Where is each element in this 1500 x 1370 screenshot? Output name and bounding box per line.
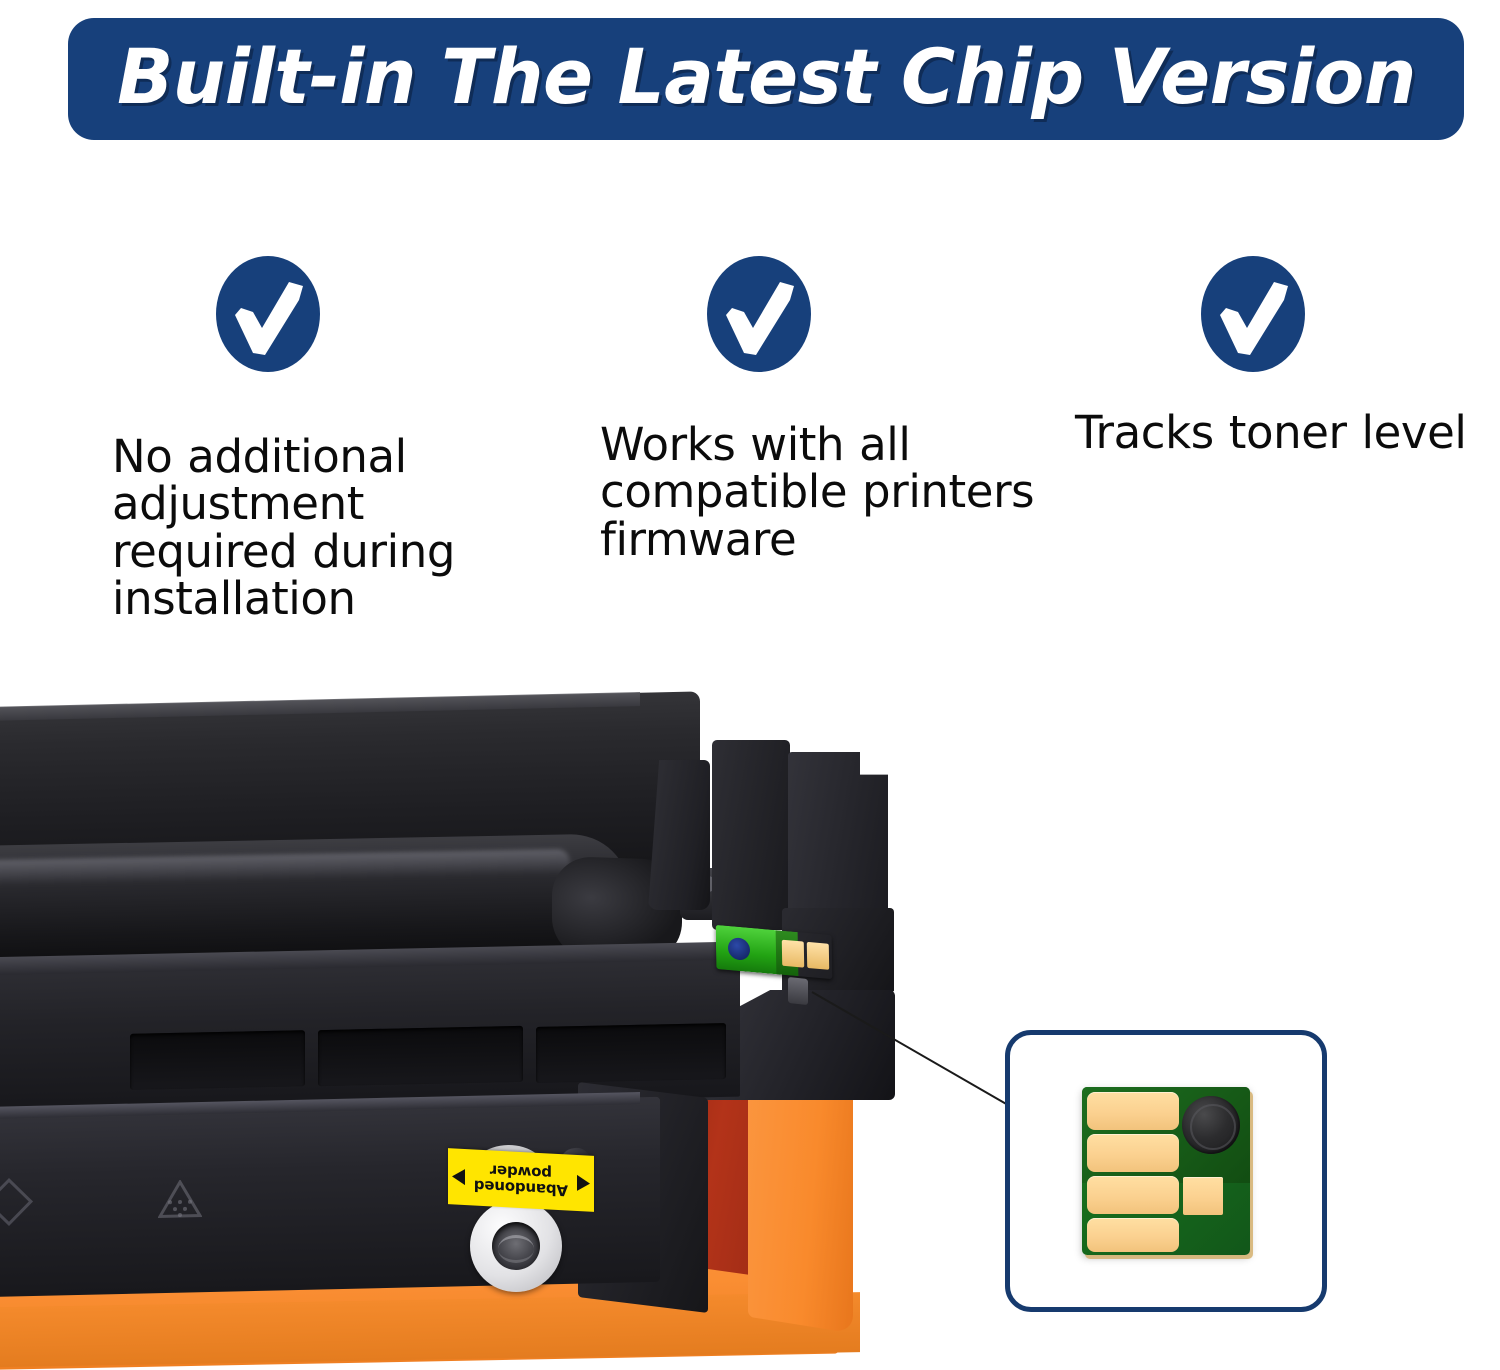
feature-list: No additional adjustment required during… <box>0 255 1500 655</box>
chip-callout-box <box>1005 1030 1327 1312</box>
feature-3-icon-wrap <box>1075 255 1500 405</box>
cartridge-vent-slot <box>130 1030 305 1090</box>
check-circle-icon <box>1200 255 1306 373</box>
chip-contact-pad <box>1087 1092 1179 1130</box>
arrow-right-icon <box>452 1168 465 1185</box>
arrow-left-icon <box>577 1175 590 1192</box>
feature-2-icon-wrap <box>600 255 1070 405</box>
cartridge-chip-notch <box>788 977 808 1005</box>
cartridge-endcap-b <box>712 740 790 930</box>
feature-1-icon-wrap <box>112 255 532 405</box>
chip-contact-pad <box>807 942 829 970</box>
feature-3-label: Tracks toner level <box>1075 409 1500 456</box>
check-circle-icon <box>215 255 321 373</box>
chip-contact-pad <box>1087 1176 1179 1214</box>
feature-1-label: No additional adjustment required during… <box>112 433 532 622</box>
cartridge-fill-plug-thread <box>498 1235 534 1263</box>
chip-component-icon <box>1182 1096 1240 1154</box>
cartridge-emboss-dots <box>166 1198 196 1217</box>
check-circle-icon <box>706 255 812 373</box>
chip-contact-pad <box>782 940 804 968</box>
cartridge-endcap-c <box>788 752 888 914</box>
feature-item-1: No additional adjustment required during… <box>112 255 532 622</box>
feature-2-label: Works with all compatible printers firmw… <box>600 421 1070 563</box>
cartridge-vent-slot <box>318 1026 523 1086</box>
chip-contact-pad <box>1087 1134 1179 1172</box>
page-title: Built-in The Latest Chip Version <box>117 39 1416 119</box>
abandoned-powder-label-text: Abandoned powder <box>471 1161 571 1199</box>
feature-item-2: Works with all compatible printers firmw… <box>600 255 1070 563</box>
abandoned-powder-label: Abandoned powder <box>448 1148 594 1212</box>
chip-contact-pad-square <box>1183 1177 1223 1215</box>
feature-item-3: Tracks toner level <box>1075 255 1500 456</box>
toner-chip-closeup <box>1082 1087 1250 1255</box>
header-banner: Built-in The Latest Chip Version <box>68 18 1464 140</box>
chip-contact-pad <box>1087 1218 1179 1252</box>
cartridge-vent-slot <box>536 1023 726 1083</box>
